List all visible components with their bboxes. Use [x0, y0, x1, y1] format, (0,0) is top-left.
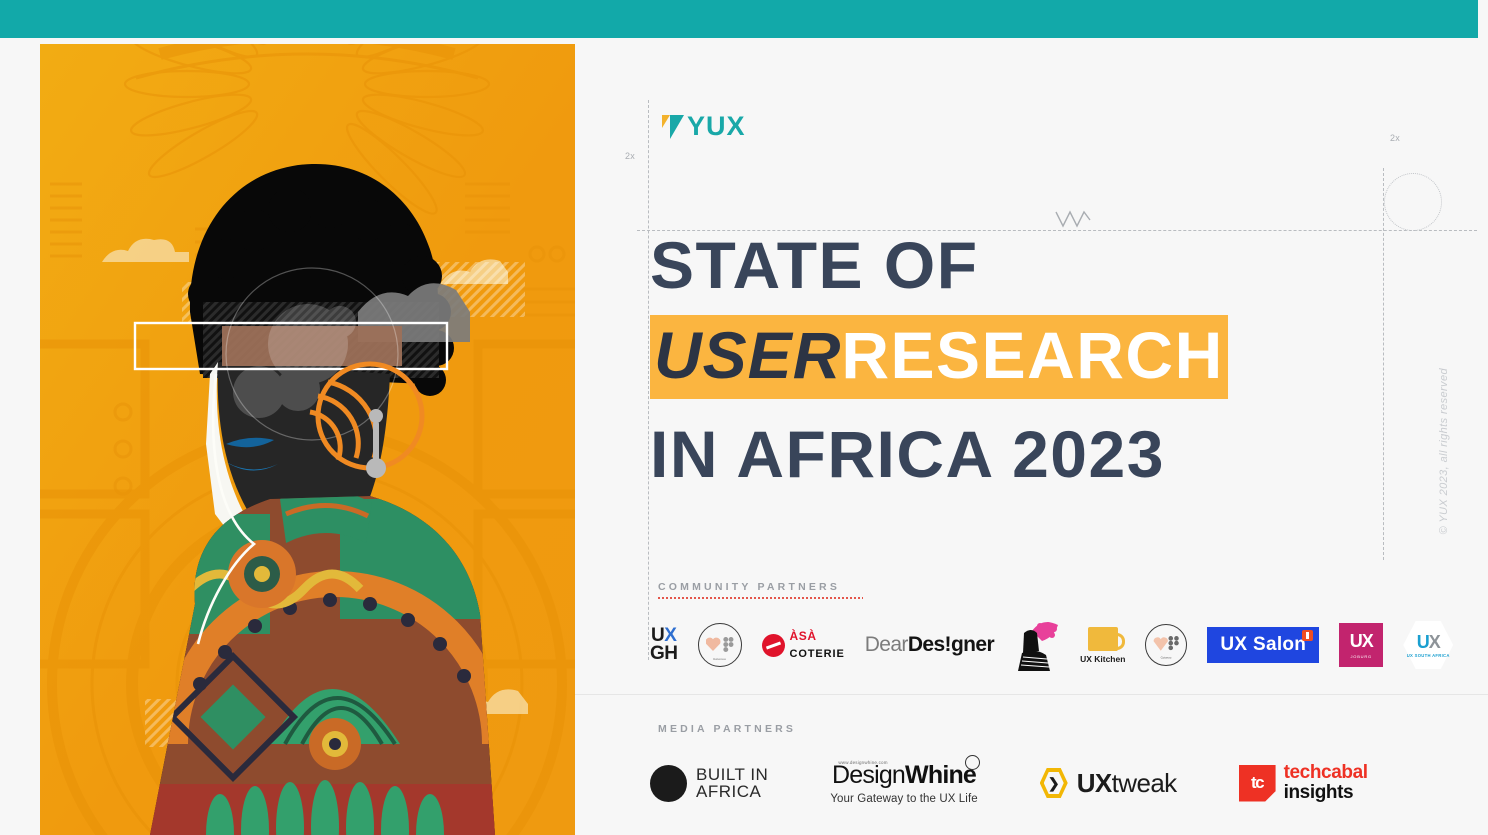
chevron-right-icon: ❯	[1040, 768, 1068, 798]
title-word-research: RESEARCH	[841, 318, 1223, 392]
bia-line-2: AFRICA	[696, 782, 761, 801]
dw-part-1: Design	[832, 761, 905, 789]
smiley-face-icon	[965, 755, 980, 770]
designwhine-wordmark: DesignWhine	[832, 761, 976, 790]
triangle-yellow-icon	[662, 115, 670, 128]
deardesigner-thin: Dear	[865, 633, 908, 657]
uxtweak-wordmark: UXtweak	[1077, 768, 1177, 799]
techcabal-line-1: techcabal	[1284, 762, 1368, 783]
designwhine-url: www.designwhine.com	[838, 760, 887, 765]
section-divider	[575, 694, 1488, 695]
ux-salon-label: UX Salon	[1220, 634, 1306, 656]
figma-icon	[723, 637, 734, 652]
logo-uxtweak[interactable]: ❯ UXtweak	[1040, 768, 1177, 799]
asa-disc-icon	[762, 634, 785, 657]
uxsa-sub: UX SOUTH AFRICA	[1407, 653, 1450, 658]
built-in-africa-mark-icon	[650, 765, 687, 802]
uxsa-mark: UX	[1417, 632, 1440, 653]
title-word-user: USER	[654, 318, 841, 392]
uxsa-x-accent: X	[1429, 632, 1440, 652]
media-partners-logos: BUILT IN AFRICA www.designwhine.com Desi…	[650, 748, 1368, 818]
guide-line-left-vertical	[648, 100, 649, 660]
bia-line-1: BUILT IN	[696, 765, 768, 784]
designwhine-tagline: Your Gateway to the UX Life	[830, 793, 977, 805]
media-partners-heading-wrap: MEDIA PARTNERS	[658, 723, 796, 735]
media-partners-heading: MEDIA PARTNERS	[658, 723, 796, 735]
techcabal-text: techcabal insights	[1284, 763, 1368, 802]
logo-ux-south-africa[interactable]: UX UX SOUTH AFRICA	[1403, 621, 1453, 669]
guide-label-left: 2x	[625, 151, 635, 161]
dotted-circle-icon	[1384, 173, 1442, 231]
asa-line-2: COTERIE	[790, 648, 845, 660]
built-in-africa-text: BUILT IN AFRICA	[696, 766, 768, 801]
ux-kitchen-label: UX Kitchen	[1080, 654, 1125, 664]
deardesigner-bold: Des!gner	[908, 633, 994, 657]
asa-coterie-text: ÀSÀ COTERIE	[790, 628, 845, 662]
logo-ux-joburg[interactable]: UX JOBURG	[1339, 623, 1383, 667]
guide-label-right: 2x	[1390, 133, 1400, 143]
triangle-teal-icon	[670, 115, 684, 139]
african-woman-collective-icon	[1014, 619, 1060, 671]
logo-deardesigner[interactable]: DearDes!gner	[865, 633, 994, 657]
title-line-1: STATE OF	[650, 230, 1370, 301]
uxgh-line-2: GH	[650, 645, 678, 663]
top-accent-band	[0, 0, 1478, 38]
logo-friends-of-figma[interactable]: Cotonou	[1145, 624, 1187, 666]
asa-line-1: ÀSÀ	[790, 629, 817, 643]
yux-wordmark: YUX	[687, 113, 746, 140]
yux-logo-marks	[662, 112, 684, 140]
logo-designwhine[interactable]: www.designwhine.com DesignWhine Your Gat…	[830, 761, 977, 805]
ux-joburg-sub: JOBURG	[1350, 654, 1371, 659]
coterie-circle-caption: Cotonou	[699, 657, 741, 661]
logo-uxgh[interactable]: UX GH	[650, 627, 678, 663]
zigzag-mark-icon	[1054, 208, 1092, 230]
copyright-notice: © YUX 2023, all rights reserved	[1438, 368, 1450, 534]
community-partners-heading-wrap: COMMUNITY PARTNERS	[658, 581, 840, 593]
logo-african-woman-collective[interactable]	[1014, 619, 1060, 671]
content-panel: 2x 2x YUX STATE OF USERRESEARCH IN AFRIC…	[575, 38, 1488, 835]
community-partners-heading: COMMUNITY PARTNERS	[658, 581, 840, 593]
african-woman-illustration	[40, 44, 575, 835]
uxtweak-light: tweak	[1112, 768, 1177, 798]
logo-built-in-africa[interactable]: BUILT IN AFRICA	[650, 765, 768, 802]
techcabal-mark-icon: tc	[1239, 765, 1276, 802]
page-title: STATE OF USERRESEARCH IN AFRICA 2023	[650, 230, 1370, 489]
logo-asa-coterie[interactable]: ÀSÀ COTERIE	[762, 628, 845, 662]
guide-line-right-vertical	[1383, 168, 1384, 560]
title-line-3: IN AFRICA 2023	[650, 419, 1370, 490]
logo-techcabal-insights[interactable]: tc techcabal insights	[1239, 763, 1368, 802]
yux-logo[interactable]: YUX	[662, 112, 746, 140]
logo-ux-salon[interactable]: UX Salon	[1207, 627, 1319, 663]
artwork-svg	[40, 44, 575, 835]
friends-of-figma-icon: Cotonou	[1146, 625, 1186, 665]
logo-ux-kitchen[interactable]: UX Kitchen	[1080, 627, 1125, 664]
coffee-cup-icon	[1088, 627, 1118, 651]
community-heading-underline	[658, 597, 863, 599]
salon-badge-icon	[1302, 630, 1313, 641]
svg-text:Cotonou: Cotonou	[1161, 655, 1172, 659]
ux-joburg-mark: UX	[1350, 631, 1373, 652]
heart-icon	[706, 637, 721, 651]
community-partners-logos: UX GH Cotonou ÀSÀ COTERIE DearDes!gner	[650, 612, 1453, 678]
title-line-2-highlight: USERRESEARCH	[650, 315, 1228, 399]
uxtweak-bold: UX	[1077, 768, 1112, 798]
logo-coterie-circle[interactable]: Cotonou	[698, 623, 742, 667]
techcabal-line-2: insights	[1284, 782, 1354, 803]
